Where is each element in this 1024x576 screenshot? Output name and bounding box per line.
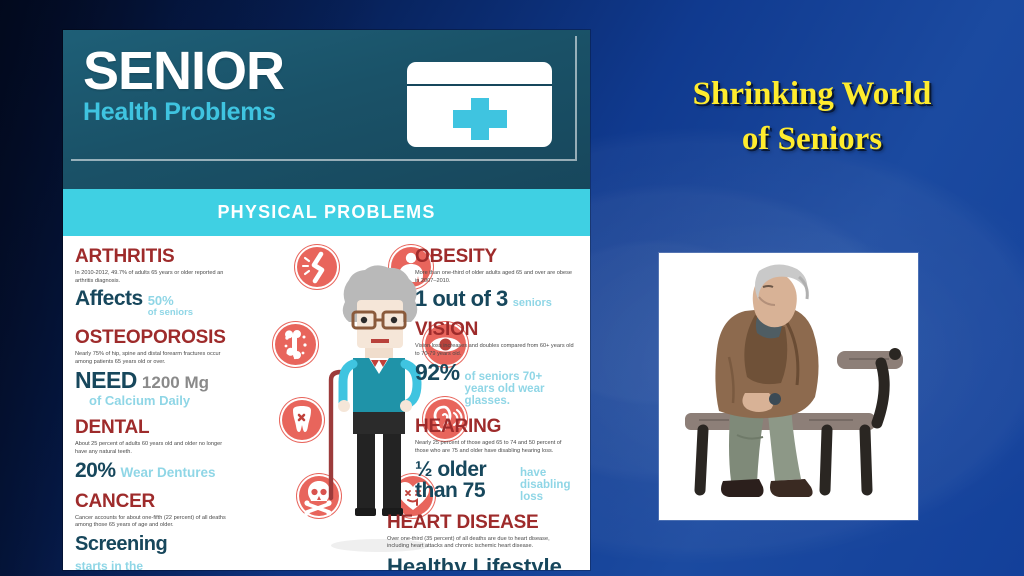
section-cancer: CANCER Cancer accounts for about one-fif… — [75, 491, 260, 570]
hearing-stat: ½ older than 75 have disabling loss — [415, 459, 590, 503]
arthritis-stat-note: of seniors — [148, 308, 193, 318]
section-vision: VISION Vision loss increases and doubles… — [415, 319, 590, 407]
osteoporosis-heading: OSTEOPOROSIS — [75, 327, 260, 349]
obesity-stat: 1 out of 3 seniors — [415, 288, 590, 310]
vision-description: Vision loss increases and doubles compar… — [415, 343, 575, 358]
section-dental: DENTAL About 25 percent of adults 60 yea… — [75, 417, 260, 481]
obesity-description: More than one-third of older adults aged… — [415, 270, 575, 285]
heart-disease-stat: Healthy Lifestyle Reduces by 80% — [387, 554, 590, 570]
kit-lid-line — [407, 84, 552, 86]
vision-stat-note: of seniors 70+ years old wear glasses. — [465, 371, 573, 407]
arthritis-stat-group: 50% of seniors — [148, 294, 193, 318]
hearing-stat-note: have disabling loss — [520, 467, 576, 503]
right-column: OBESITY More than one-third of older adu… — [415, 246, 590, 570]
tooth-icon — [282, 400, 322, 440]
arthritis-description: In 2010-2012, 49.7% of adults 65 years o… — [75, 270, 235, 285]
dental-stat-note: Wear Dentures — [121, 466, 216, 480]
cancer-stat-big: Screening — [75, 533, 167, 555]
infographic-body: ARTHRITIS In 2010-2012, 49.7% of adults … — [63, 236, 590, 570]
slide-title-line2: of Seniors — [616, 117, 1008, 162]
hearing-stat-big: ½ older than 75 — [415, 459, 515, 501]
infographic-header: SENIOR Health Problems — [63, 30, 590, 189]
obesity-stat-big: 1 out of 3 — [415, 288, 508, 310]
dental-heading: DENTAL — [75, 417, 260, 439]
section-heart-disease: HEART DISEASE Over one-third (35 percent… — [387, 512, 590, 570]
section-hearing: HEARING Nearly 25 percent of those aged … — [415, 416, 590, 502]
osteoporosis-stat-note: of Calcium Daily — [89, 393, 260, 408]
hearing-description: Nearly 25 percent of those aged 65 to 74… — [415, 440, 575, 455]
infographic-title-sub: Health Problems — [83, 98, 284, 127]
section-obesity: OBESITY More than one-third of older adu… — [415, 246, 590, 310]
hearing-heading: HEARING — [415, 416, 590, 438]
cancer-heading: CANCER — [75, 491, 260, 513]
infographic-title-main: SENIOR — [83, 42, 284, 100]
arthritis-stat-big: Affects — [75, 288, 143, 310]
dental-description: About 25 percent of adults 60 years old … — [75, 441, 235, 456]
heart-disease-stat-big: Healthy Lifestyle — [387, 554, 590, 570]
arthritis-heading: ARTHRITIS — [75, 246, 260, 268]
arthritis-stat-value: 50% — [148, 294, 193, 308]
cancer-stat: Screening starts in the 40's — [75, 533, 260, 570]
vision-stat-big: 92% — [415, 361, 460, 383]
vision-heading: VISION — [415, 319, 590, 341]
section-osteoporosis: OSTEOPOROSIS Nearly 75% of hip, spine an… — [75, 327, 260, 408]
arthritis-stat: Affects 50% of seniors — [75, 288, 260, 318]
obesity-heading: OBESITY — [415, 246, 590, 268]
physical-problems-banner: PHYSICAL PROBLEMS — [63, 189, 590, 236]
banner-label: PHYSICAL PROBLEMS — [217, 202, 435, 223]
senior-health-problems-infographic: SENIOR Health Problems PHYSICAL PROBLEMS… — [63, 30, 590, 570]
header-vertical-rule — [575, 36, 577, 159]
lonely-elderly-man-on-bench-illustration — [659, 253, 918, 520]
cancer-stat-note: starts in the 40's — [75, 560, 167, 570]
cancer-description: Cancer accounts for about one-fifth (22 … — [75, 515, 235, 530]
heart-disease-heading: HEART DISEASE — [387, 512, 590, 534]
vision-stat: 92% of seniors 70+ years old wear glasse… — [415, 361, 590, 407]
dental-stat-big: 20% — [75, 460, 116, 482]
obesity-stat-note: seniors — [513, 296, 552, 310]
osteoporosis-stat-big: NEED — [75, 369, 137, 391]
heart-disease-description: Over one-third (35 percent) of all death… — [387, 536, 567, 551]
slide-title: Shrinking World of Seniors — [616, 72, 1008, 162]
dental-stat: 20% Wear Dentures — [75, 460, 260, 482]
porous-bone-icon — [275, 324, 316, 365]
osteoporosis-stat-value: 1200 Mg — [142, 373, 209, 393]
left-column: ARTHRITIS In 2010-2012, 49.7% of adults … — [75, 246, 260, 570]
header-horizontal-rule — [71, 159, 577, 161]
section-arthritis: ARTHRITIS In 2010-2012, 49.7% of adults … — [75, 246, 260, 318]
first-aid-kit-icon — [407, 62, 552, 147]
cross-horizontal-bar — [453, 110, 507, 128]
osteoporosis-stat: NEED 1200 Mg — [75, 369, 260, 393]
osteoporosis-description: Nearly 75% of hip, spine and distal fore… — [75, 351, 235, 366]
slide-title-line1: Shrinking World — [616, 72, 1008, 117]
infographic-title: SENIOR Health Problems — [83, 42, 284, 127]
